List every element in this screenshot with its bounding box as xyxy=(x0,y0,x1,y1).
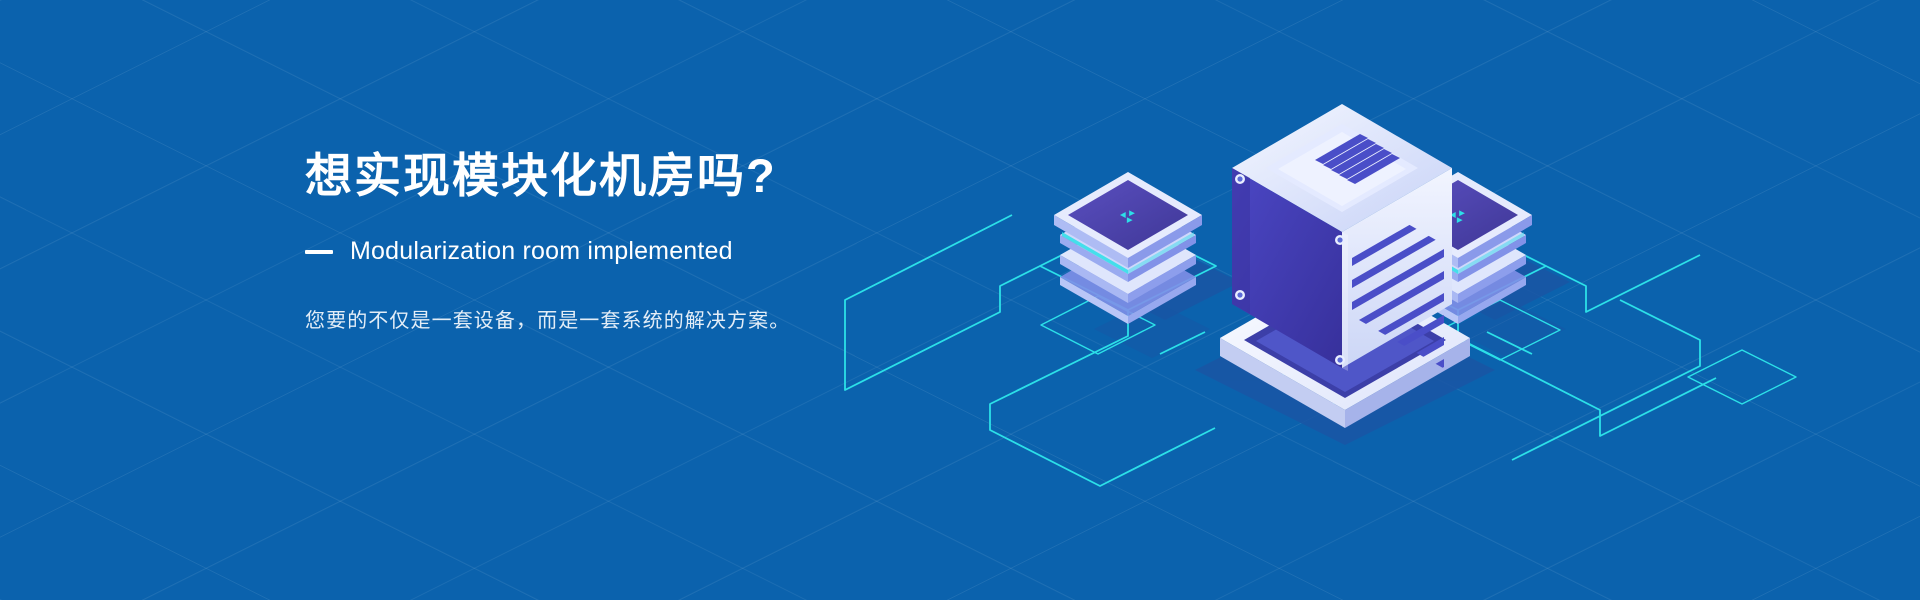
subtitle: Modularization room implemented xyxy=(350,237,733,266)
page-title: 想实现模块化机房吗? xyxy=(305,148,1065,203)
banner-text-block: 想实现模块化机房吗? Modularization room implement… xyxy=(305,148,1065,337)
subtitle-row: Modularization room implemented xyxy=(305,237,1065,266)
hero-banner: 想实现模块化机房吗? Modularization room implement… xyxy=(0,0,1920,600)
banner-description: 您要的不仅是一套设备，而是一套系统的解决方案。 xyxy=(305,305,1065,337)
chip-module-left xyxy=(1054,172,1202,324)
dash-decoration-icon xyxy=(305,250,333,254)
